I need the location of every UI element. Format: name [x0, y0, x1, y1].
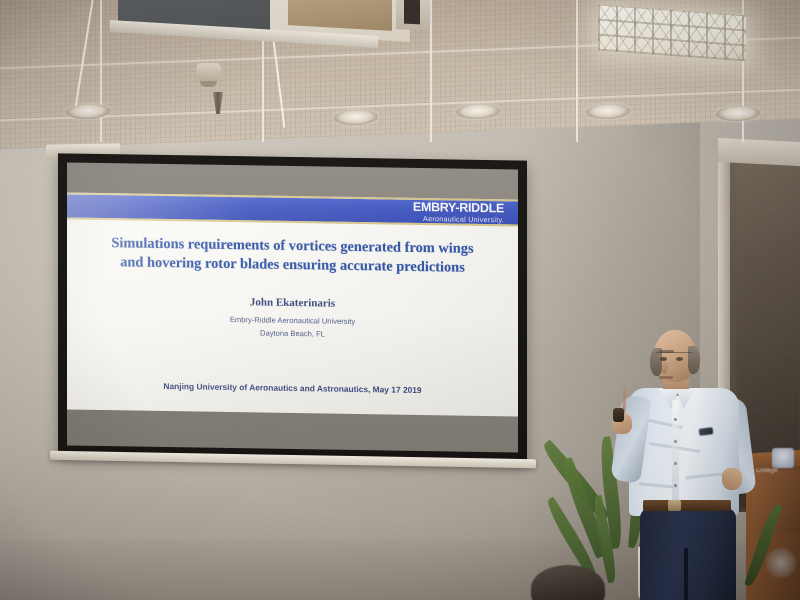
embry-riddle-logo: EMBRY-RIDDLE Aeronautical University. [413, 201, 504, 223]
trouser-leg-seam [684, 548, 688, 600]
ceiling-grid-line [430, 0, 432, 142]
presentation-clicker [613, 408, 624, 422]
alcove-lintel [718, 138, 800, 166]
smoke-detector [196, 63, 221, 83]
slide-title: Simulations requirements of vortices gen… [85, 234, 500, 279]
belt-buckle [668, 500, 681, 511]
presenter-nose [661, 360, 668, 374]
photo-scene: EMBRY-RIDDLE Aeronautical University. Si… [0, 0, 800, 600]
slide-city: Daytona Beach, FL [67, 325, 518, 341]
shirt-placket [672, 400, 679, 506]
slide-header-banner: EMBRY-RIDDLE Aeronautical University. [67, 192, 518, 226]
presenter-eye [676, 357, 683, 361]
podium-crest-icon [772, 448, 794, 468]
presenter-right-hand [722, 468, 742, 490]
ceiling-grid-line [100, 0, 102, 142]
logo-wordmark: EMBRY-RIDDLE [413, 201, 504, 215]
ceiling-duct-slot [404, 0, 420, 24]
slide-venue-line: Nanjing University of Aeronautics and As… [67, 379, 518, 396]
slide-author-name: John Ekaterinaris [67, 293, 518, 312]
presenter-mouth [659, 376, 673, 379]
presentation-slide: EMBRY-RIDDLE Aeronautical University. Si… [67, 192, 518, 416]
presenter-trousers [640, 508, 736, 600]
logo-tagline: Aeronautical University. [413, 215, 504, 224]
projection-screen-surface: EMBRY-RIDDLE Aeronautical University. Si… [67, 162, 518, 452]
projection-screen-frame: EMBRY-RIDDLE Aeronautical University. Si… [58, 153, 527, 462]
podium-label: College [756, 468, 778, 474]
presenter-belt [643, 500, 731, 511]
ceiling-grid-line [576, 0, 578, 142]
podium-seal [766, 548, 796, 578]
